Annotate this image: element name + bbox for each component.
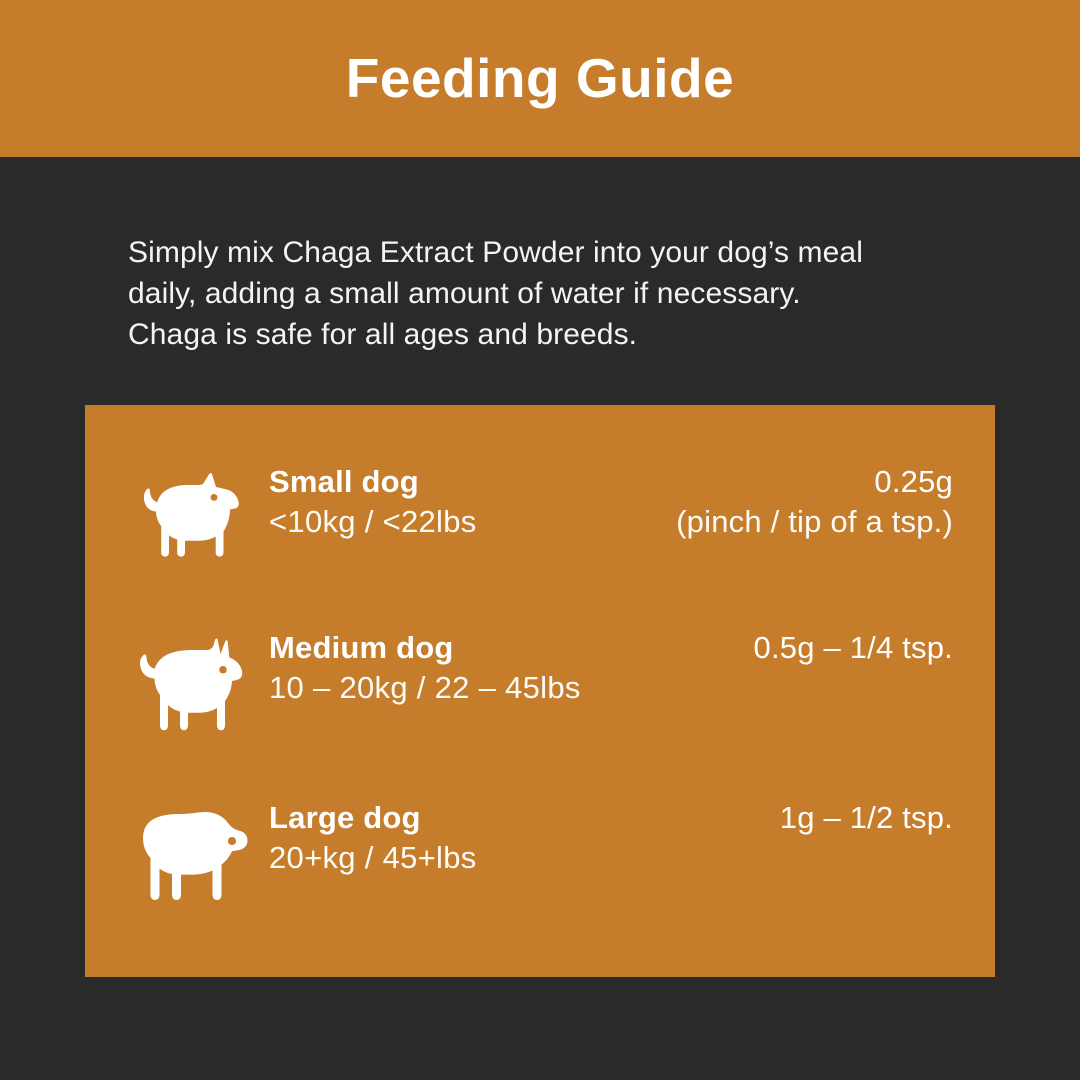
row-dose: 1g – 1/2 tsp. xyxy=(477,797,955,837)
feeding-table-card: Small dog <10kg / <22lbs 0.25g (pinch / … xyxy=(85,405,995,977)
dose-amount: 1g – 1/2 tsp. xyxy=(477,799,953,837)
page-title: Feeding Guide xyxy=(346,51,734,106)
small-dog-icon xyxy=(127,457,257,571)
row-dose: 0.5g – 1/4 tsp. xyxy=(581,627,955,667)
header-band: Feeding Guide xyxy=(0,0,1080,157)
table-row: Medium dog 10 – 20kg / 22 – 45lbs 0.5g –… xyxy=(127,627,955,797)
large-dog-icon xyxy=(127,797,257,911)
row-labels: Medium dog 10 – 20kg / 22 – 45lbs xyxy=(257,627,581,709)
row-labels: Small dog <10kg / <22lbs xyxy=(257,457,477,543)
dose-amount: 0.25g xyxy=(477,463,953,501)
dog-weight-range: 20+kg / 45+lbs xyxy=(269,837,477,879)
dog-size-title: Large dog xyxy=(269,799,477,837)
dog-weight-range: <10kg / <22lbs xyxy=(269,501,477,543)
row-labels: Large dog 20+kg / 45+lbs xyxy=(257,797,477,879)
dog-weight-range: 10 – 20kg / 22 – 45lbs xyxy=(269,667,581,709)
feeding-guide-page: Feeding Guide Simply mix Chaga Extract P… xyxy=(0,0,1080,1080)
medium-dog-icon xyxy=(127,627,257,741)
dog-size-title: Small dog xyxy=(269,463,477,501)
table-row: Large dog 20+kg / 45+lbs 1g – 1/2 tsp. xyxy=(127,797,955,967)
table-row: Small dog <10kg / <22lbs 0.25g (pinch / … xyxy=(127,457,955,627)
feeding-rows: Small dog <10kg / <22lbs 0.25g (pinch / … xyxy=(127,457,955,967)
row-dose: 0.25g (pinch / tip of a tsp.) xyxy=(477,457,955,543)
dose-amount: 0.5g – 1/4 tsp. xyxy=(581,629,953,667)
dose-note: (pinch / tip of a tsp.) xyxy=(477,501,953,543)
intro-paragraph: Simply mix Chaga Extract Powder into you… xyxy=(128,232,888,355)
dog-size-title: Medium dog xyxy=(269,629,581,667)
